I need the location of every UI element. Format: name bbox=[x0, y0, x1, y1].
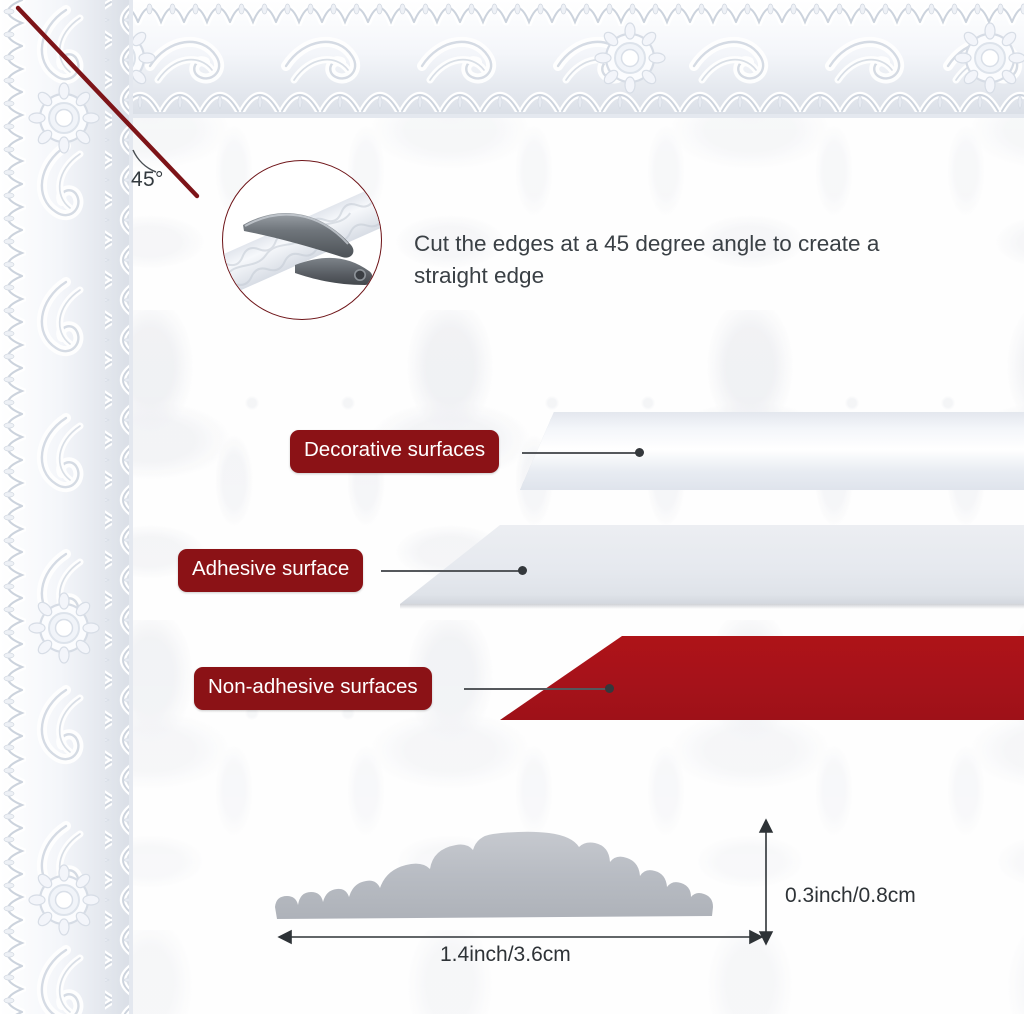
decorative-molding-strip bbox=[520, 412, 1024, 490]
callout-decorative-label: Decorative surfaces bbox=[304, 440, 485, 461]
scissors-icon bbox=[223, 161, 381, 319]
adhesive-surface-strip bbox=[400, 525, 1024, 604]
leader-dot-non-adhesive bbox=[605, 684, 614, 693]
ornate-frame-left-border bbox=[0, 0, 133, 1014]
frame-left-ornament bbox=[0, 0, 133, 1014]
leader-dot-adhesive bbox=[518, 566, 527, 575]
angle-label: 45° bbox=[131, 168, 164, 192]
callout-adhesive-surface: Adhesive surface bbox=[178, 549, 363, 592]
callout-adhesive-label: Adhesive surface bbox=[192, 559, 349, 580]
frame-top-ornament bbox=[0, 0, 1024, 118]
callout-decorative-surfaces: Decorative surfaces bbox=[290, 430, 499, 473]
height-dimension-label: 0.3inch/0.8cm bbox=[785, 884, 916, 908]
profile-silhouette bbox=[255, 815, 775, 930]
leader-line-decorative bbox=[522, 452, 640, 454]
product-infographic: 45° bbox=[0, 0, 1024, 1014]
callout-non-adhesive-label: Non-adhesive surfaces bbox=[208, 677, 418, 698]
cross-section-profile bbox=[255, 815, 775, 930]
leader-dot-decorative bbox=[635, 448, 644, 457]
cut-instruction-text: Cut the edges at a 45 degree angle to cr… bbox=[414, 228, 924, 292]
leader-line-adhesive bbox=[381, 570, 523, 572]
adhesive-strip-shadow bbox=[400, 604, 1024, 609]
leader-line-non-adhesive bbox=[464, 688, 612, 690]
scissors-cut-inset bbox=[222, 160, 382, 320]
width-dimension-label: 1.4inch/3.6cm bbox=[440, 943, 571, 967]
callout-non-adhesive-surfaces: Non-adhesive surfaces bbox=[194, 667, 432, 710]
ornate-frame-top-border bbox=[0, 0, 1024, 118]
